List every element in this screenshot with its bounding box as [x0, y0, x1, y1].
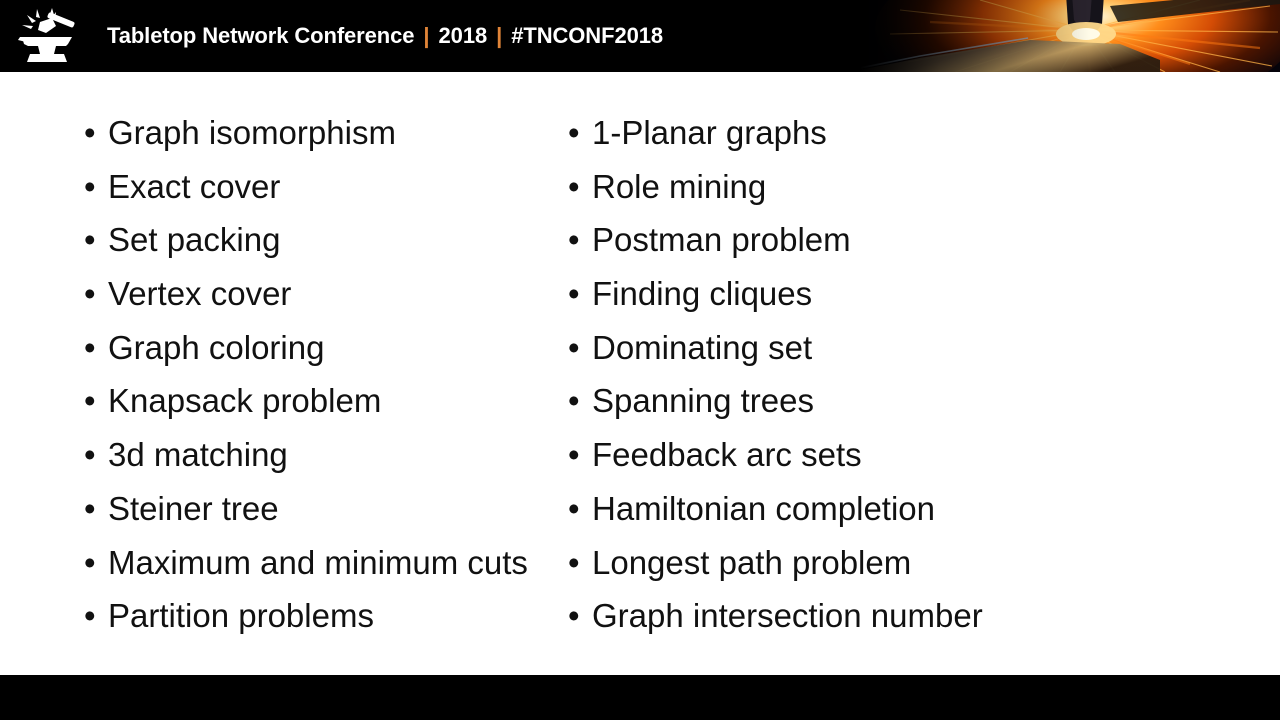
list-item-label: Steiner tree — [108, 482, 279, 536]
list-item: •Vertex cover — [84, 267, 562, 321]
bullet-icon: • — [84, 536, 108, 590]
bullet-icon: • — [84, 374, 108, 428]
right-column: •1-Planar graphs •Role mining •Postman p… — [562, 72, 1280, 675]
list-item: •Graph coloring — [84, 321, 562, 375]
bullet-icon: • — [568, 106, 592, 160]
list-item: •Graph isomorphism — [84, 106, 562, 160]
list-item-label: Longest path problem — [592, 536, 911, 590]
list-item-label: Graph isomorphism — [108, 106, 396, 160]
bullet-icon: • — [568, 428, 592, 482]
list-item-label: Role mining — [592, 160, 766, 214]
bullet-icon: • — [568, 321, 592, 375]
slide-content: •Graph isomorphism •Exact cover •Set pac… — [0, 72, 1280, 675]
bullet-icon: • — [568, 267, 592, 321]
bullet-icon: • — [84, 482, 108, 536]
list-item: •Set packing — [84, 213, 562, 267]
list-item: •Finding cliques — [568, 267, 1280, 321]
bullet-icon: • — [568, 536, 592, 590]
bullet-icon: • — [84, 106, 108, 160]
header-bar: Tabletop Network Conference | 2018 | #TN… — [0, 0, 1280, 72]
anvil-hammer-sparks-icon — [14, 6, 80, 68]
list-item-label: Graph coloring — [108, 321, 324, 375]
bullet-icon: • — [84, 589, 108, 643]
bullet-icon: • — [568, 213, 592, 267]
bullet-icon: • — [84, 213, 108, 267]
bullet-icon: • — [84, 321, 108, 375]
right-bullet-list: •1-Planar graphs •Role mining •Postman p… — [568, 106, 1280, 643]
list-item-label: Exact cover — [108, 160, 280, 214]
bullet-icon: • — [568, 374, 592, 428]
footer-bar — [0, 675, 1280, 720]
list-item-label: Knapsack problem — [108, 374, 381, 428]
bullet-icon: • — [568, 160, 592, 214]
left-column: •Graph isomorphism •Exact cover •Set pac… — [0, 72, 562, 675]
list-item: •Knapsack problem — [84, 374, 562, 428]
list-item: •Dominating set — [568, 321, 1280, 375]
header-title: Tabletop Network Conference | 2018 | #TN… — [107, 0, 663, 72]
list-item: •1-Planar graphs — [568, 106, 1280, 160]
list-item: •Steiner tree — [84, 482, 562, 536]
list-item: •Postman problem — [568, 213, 1280, 267]
list-item-label: Finding cliques — [592, 267, 812, 321]
list-item-label: 1-Planar graphs — [592, 106, 827, 160]
list-item: •Partition problems — [84, 589, 562, 643]
separator-2: | — [487, 23, 511, 49]
list-item-label: Maximum and minimum cuts — [108, 536, 528, 590]
list-item: •3d matching — [84, 428, 562, 482]
list-item: •Maximum and minimum cuts — [84, 536, 562, 590]
slide: Tabletop Network Conference | 2018 | #TN… — [0, 0, 1280, 720]
conference-hashtag: #TNCONF2018 — [511, 23, 663, 49]
bullet-icon: • — [84, 428, 108, 482]
list-item-label: Feedback arc sets — [592, 428, 862, 482]
list-item: •Hamiltonian completion — [568, 482, 1280, 536]
list-item: •Spanning trees — [568, 374, 1280, 428]
list-item: •Feedback arc sets — [568, 428, 1280, 482]
bullet-icon: • — [84, 267, 108, 321]
list-item-label: Partition problems — [108, 589, 374, 643]
list-item: •Exact cover — [84, 160, 562, 214]
list-item-label: Spanning trees — [592, 374, 814, 428]
left-bullet-list: •Graph isomorphism •Exact cover •Set pac… — [84, 106, 562, 643]
bullet-icon: • — [568, 589, 592, 643]
bullet-icon: • — [568, 482, 592, 536]
conference-name: Tabletop Network Conference — [107, 23, 414, 49]
list-item: •Longest path problem — [568, 536, 1280, 590]
list-item: •Graph intersection number — [568, 589, 1280, 643]
list-item-label: Hamiltonian completion — [592, 482, 935, 536]
list-item-label: Vertex cover — [108, 267, 291, 321]
separator-1: | — [414, 23, 438, 49]
list-item-label: Postman problem — [592, 213, 851, 267]
conference-year: 2018 — [439, 23, 488, 49]
forge-sparks-image — [860, 0, 1280, 72]
bullet-icon: • — [84, 160, 108, 214]
list-item: •Role mining — [568, 160, 1280, 214]
list-item-label: Dominating set — [592, 321, 812, 375]
list-item-label: 3d matching — [108, 428, 288, 482]
list-item-label: Graph intersection number — [592, 589, 983, 643]
list-item-label: Set packing — [108, 213, 280, 267]
